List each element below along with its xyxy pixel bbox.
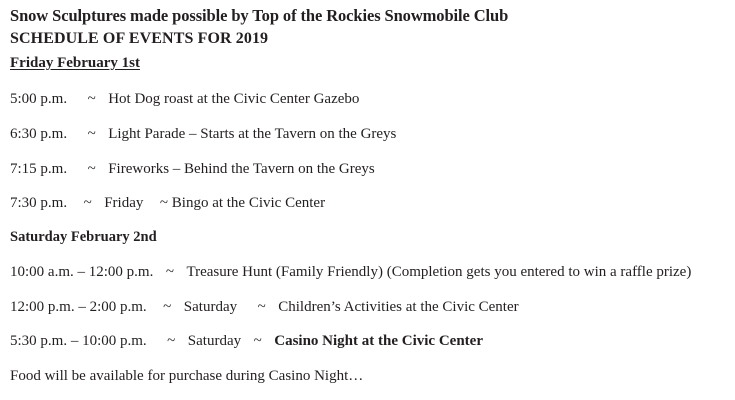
schedule-subtitle: SCHEDULE OF EVENTS FOR 2019 bbox=[10, 31, 268, 47]
page-title: Snow Sculptures made possible by Top of … bbox=[10, 8, 508, 25]
event-time: 5:00 p.m. bbox=[10, 92, 67, 107]
event-day-note: Saturday bbox=[184, 300, 237, 315]
event-separator-secondary: ~ bbox=[258, 300, 266, 315]
event-row: 12:00 p.m. – 2:00 p.m. ~ Saturday ~ Chil… bbox=[10, 300, 519, 315]
event-description: Light Parade – Starts at the Tavern on t… bbox=[108, 127, 396, 142]
event-description: Fireworks – Behind the Tavern on the Gre… bbox=[108, 162, 375, 177]
event-description: Treasure Hunt (Family Friendly) (Complet… bbox=[186, 265, 691, 280]
event-description: Casino Night at the Civic Center bbox=[274, 334, 483, 349]
day-heading-friday: Friday February 1st bbox=[10, 56, 140, 71]
event-description: Children’s Activities at the Civic Cente… bbox=[278, 300, 518, 315]
event-day-note: Saturday bbox=[188, 334, 241, 349]
event-time: 7:15 p.m. bbox=[10, 162, 67, 177]
footnote-text: Food will be available for purchase duri… bbox=[10, 369, 363, 384]
event-row: 5:30 p.m. – 10:00 p.m. ~ Saturday ~ Casi… bbox=[10, 334, 483, 349]
event-time: 12:00 p.m. – 2:00 p.m. bbox=[10, 300, 147, 315]
day-heading-saturday: Saturday February 2nd bbox=[10, 230, 157, 245]
event-separator: ~ bbox=[84, 196, 92, 211]
event-separator: ~ bbox=[88, 92, 96, 107]
event-separator: ~ bbox=[88, 127, 96, 142]
event-description: Bingo at the Civic Center bbox=[172, 196, 325, 211]
event-row: 7:30 p.m. ~ Friday ~ Bingo at the Civic … bbox=[10, 196, 325, 211]
event-row: 5:00 p.m. ~ Hot Dog roast at the Civic C… bbox=[10, 92, 359, 107]
event-separator: ~ bbox=[163, 300, 171, 315]
event-row: 10:00 a.m. – 12:00 p.m. ~ Treasure Hunt … bbox=[10, 265, 691, 280]
event-time: 10:00 a.m. – 12:00 p.m. bbox=[10, 265, 153, 280]
event-schedule-document: Snow Sculptures made possible by Top of … bbox=[0, 0, 735, 400]
event-separator-secondary: ~ bbox=[160, 196, 168, 211]
event-separator-secondary: ~ bbox=[254, 334, 262, 349]
event-time: 6:30 p.m. bbox=[10, 127, 67, 142]
event-day-note: Friday bbox=[104, 196, 143, 211]
event-row: 7:15 p.m. ~ Fireworks – Behind the Taver… bbox=[10, 162, 375, 177]
event-separator: ~ bbox=[167, 334, 175, 349]
event-row: 6:30 p.m. ~ Light Parade – Starts at the… bbox=[10, 127, 396, 142]
event-time: 7:30 p.m. bbox=[10, 196, 67, 211]
event-separator: ~ bbox=[166, 265, 174, 280]
event-description: Hot Dog roast at the Civic Center Gazebo bbox=[108, 92, 359, 107]
event-separator: ~ bbox=[88, 162, 96, 177]
event-time: 5:30 p.m. – 10:00 p.m. bbox=[10, 334, 147, 349]
